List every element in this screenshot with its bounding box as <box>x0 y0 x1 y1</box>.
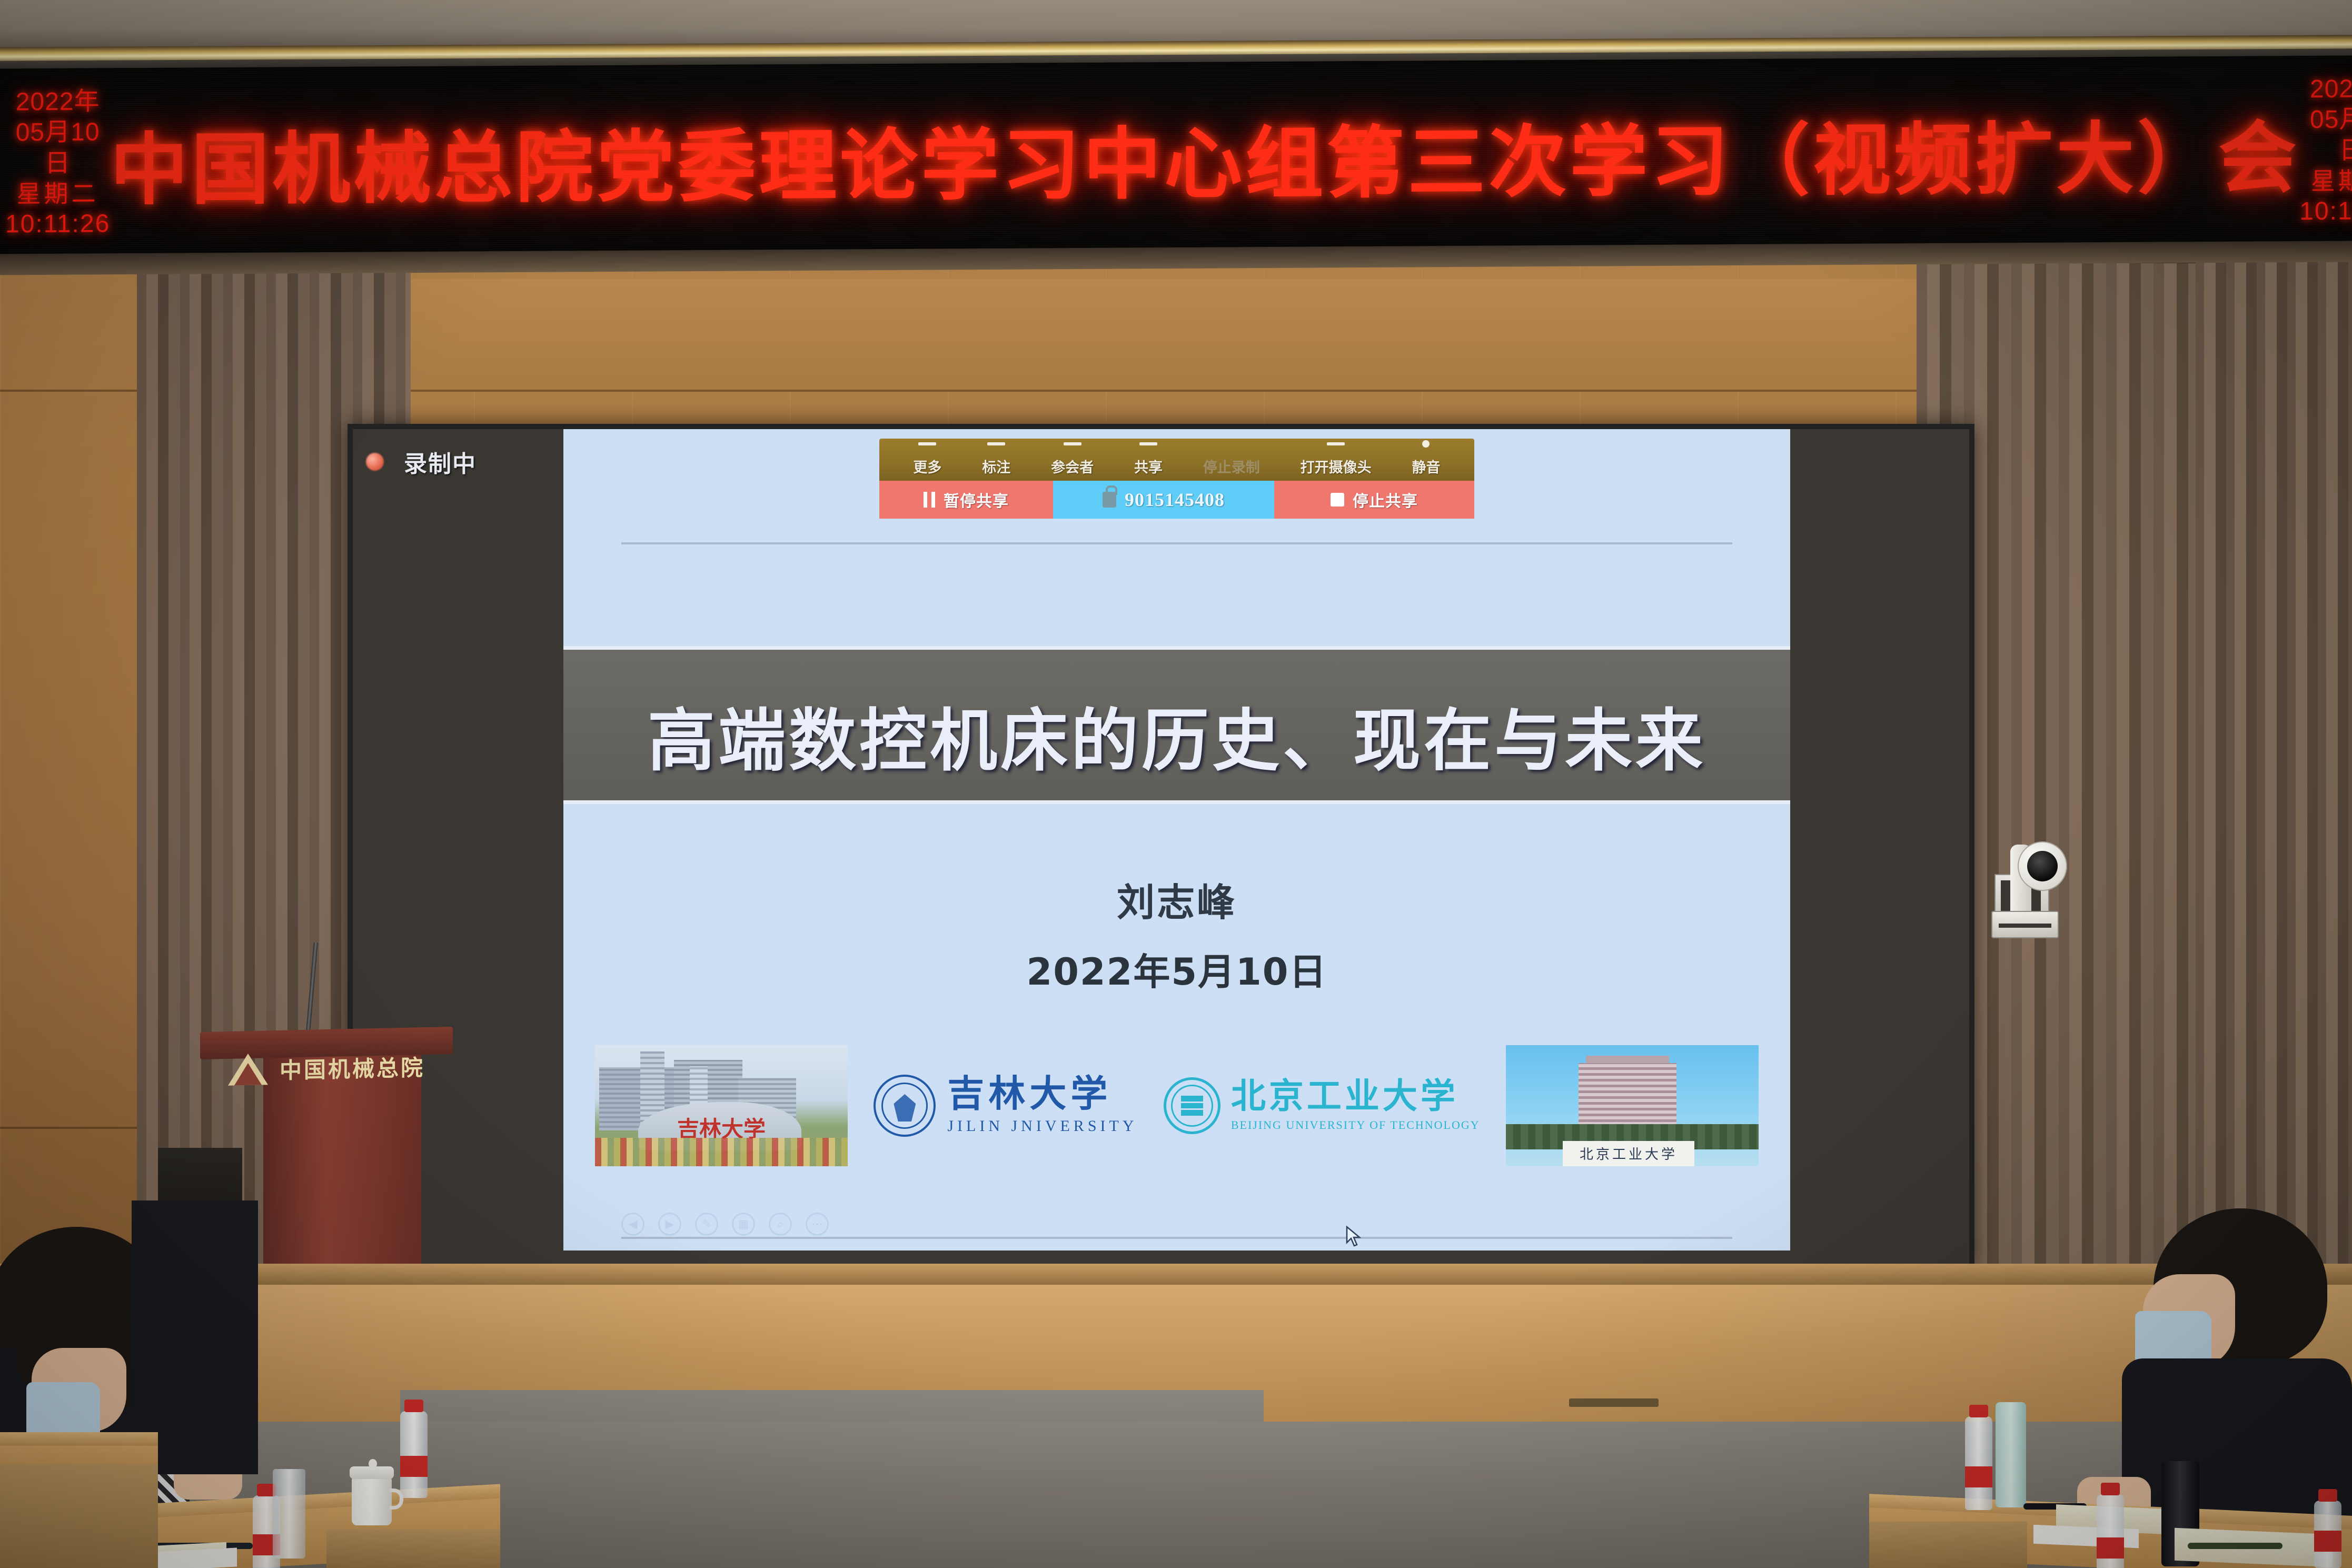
camera-lens-icon <box>2027 851 2058 881</box>
led-left-time: 10:11:26 <box>5 209 110 240</box>
led-right-time: 10:11:26 <box>2299 196 2352 227</box>
stop-square-icon <box>1331 493 1344 507</box>
stage-edge <box>0 1264 2352 1287</box>
pause-icon <box>924 492 935 508</box>
toolbar-item-mute[interactable]: 静音 <box>1412 456 1440 477</box>
jilin-university-campus-photo: 吉林大学 <box>595 1045 848 1166</box>
toolbar-label-stop-record: 停止录制 <box>1203 460 1260 475</box>
table-right-front-panel <box>1869 1522 2027 1568</box>
toolbar-label-start-video: 打开摄像头 <box>1301 460 1372 475</box>
jilin-logo-cn: 吉林大学 <box>947 1076 1137 1113</box>
projection-screen[interactable]: 录制中 更多 标注 参会者 <box>348 424 1974 1272</box>
bjut-logo-en: BEIJING UNIVERSITY OF TECHNOLOGY <box>1231 1118 1480 1132</box>
prev-slide-icon[interactable]: ◀ <box>621 1213 644 1236</box>
recording-label: 录制中 <box>404 445 477 479</box>
toolbar-item-annotate[interactable]: 标注 <box>982 456 1010 477</box>
toolbar-label-share: 共享 <box>1134 460 1163 475</box>
share-icon <box>1139 442 1157 445</box>
all-slides-icon[interactable]: ▦ <box>732 1213 755 1236</box>
table-left-rear-front <box>0 1465 158 1568</box>
shared-presentation-window[interactable]: 更多 标注 参会者 共享 <box>563 429 1790 1251</box>
thermos-steel <box>273 1469 305 1559</box>
slide-title: 高端数控机床的历史、现在与未来 <box>563 686 1790 783</box>
toolbar-label-participants: 参会者 <box>1051 460 1094 475</box>
pause-share-label: 暂停共享 <box>944 488 1009 511</box>
slide-band-line-bottom <box>563 800 1790 804</box>
table-left-front-panel <box>326 1530 500 1568</box>
conference-hall-scene: 2022年05月10日 星期二 10:11:26 中国机械总院党委理论学习中心组… <box>0 0 2352 1568</box>
slide-band-line-top <box>563 646 1790 650</box>
water-bottle <box>2314 1501 2341 1568</box>
jilin-university-logo: 吉林大学 JILIN JNIVERSITY <box>874 1075 1137 1137</box>
bjut-seal-icon <box>1164 1077 1220 1134</box>
pause-share-button[interactable]: 暂停共享 <box>879 481 1053 519</box>
beijing-university-of-technology-logo: 北京工业大学 BEIJING UNIVERSITY OF TECHNOLOGY <box>1164 1077 1480 1134</box>
pen-tool-icon[interactable]: ✎ <box>695 1213 718 1236</box>
pen <box>2188 1543 2282 1549</box>
toolbar-label-annotate: 标注 <box>982 460 1010 475</box>
led-right-weekday: 星期二 <box>2299 166 2352 196</box>
recording-indicator: 录制中 <box>366 445 477 479</box>
slide-logo-row: 吉林大学 吉林大学 JILIN JNIVERSITY 北京工业大学 <box>595 1040 1759 1172</box>
jilin-seal-icon <box>874 1075 936 1137</box>
podium-org-name: 中国机械总院 <box>280 1049 425 1085</box>
lock-icon <box>1103 492 1116 508</box>
people-icon <box>1064 442 1081 445</box>
bjut-logo-cn: 北京工业大学 <box>1231 1079 1480 1114</box>
led-right-date: 2022年05月10日 <box>2299 74 2352 167</box>
led-banner: 2022年05月10日 星期二 10:11:26 中国机械总院党委理论学习中心组… <box>0 55 2352 258</box>
led-left-datetime: 2022年05月10日 星期二 10:11:26 <box>5 86 110 240</box>
slide-divider-top <box>621 542 1732 544</box>
stop-share-button[interactable]: 停止共享 <box>1274 481 1474 519</box>
toolbar-item-share[interactable]: 共享 <box>1134 456 1163 477</box>
next-slide-icon[interactable]: ▶ <box>658 1213 681 1236</box>
led-banner-title: 中国机械总院党委理论学习中心组第三次学习（视频扩大）会 <box>110 94 2299 220</box>
lidded-teacup <box>352 1477 392 1525</box>
mountain-triangle-logo-icon <box>228 1053 268 1086</box>
toolbar-item-start-video[interactable]: 打开摄像头 <box>1301 456 1372 477</box>
beijing-university-of-technology-campus-photo: 北京工业大学 <box>1506 1045 1759 1166</box>
meeting-id-chip[interactable]: 9015145408 <box>1053 481 1274 519</box>
led-left-weekday: 星期二 <box>5 179 110 209</box>
stop-share-label: 停止共享 <box>1353 488 1418 511</box>
slide-date: 2022年5月10日 <box>563 942 1790 996</box>
stage-vent <box>1569 1398 1659 1407</box>
meeting-id-value: 9015145408 <box>1125 489 1225 511</box>
led-right-datetime: 2022年05月10日 星期二 10:11:26 <box>2299 74 2352 227</box>
ellipsis-icon <box>918 442 936 445</box>
more-options-icon[interactable]: ⋯ <box>806 1213 829 1236</box>
water-bottle <box>400 1411 428 1498</box>
toolbar-item-stop-record[interactable]: 停止录制 <box>1203 456 1260 477</box>
pen-icon <box>987 442 1005 445</box>
water-bottle <box>1965 1416 1992 1510</box>
toolbar-item-participants[interactable]: 参会者 <box>1051 456 1094 477</box>
toolbar-item-more[interactable]: 更多 <box>913 456 941 477</box>
presentation-controls[interactable]: ◀ ▶ ✎ ▦ ⌕ ⋯ <box>621 1213 829 1236</box>
thermos-flask <box>1996 1402 2026 1507</box>
jilin-logo-en: JILIN JNIVERSITY <box>947 1117 1137 1135</box>
record-dot-icon <box>366 453 384 471</box>
curtain-far-right <box>2196 226 2352 1343</box>
podium-nameplate: 中国机械总院 <box>208 1039 440 1096</box>
wall-upper-band <box>253 279 1990 390</box>
meeting-toolbar-row[interactable]: 更多 标注 参会者 共享 <box>879 439 1474 481</box>
water-bottle <box>2097 1494 2124 1568</box>
slide-author: 刘志峰 <box>563 871 1790 927</box>
camera-icon <box>1327 442 1345 445</box>
meeting-control-toolbar[interactable]: 更多 标注 参会者 共享 <box>879 439 1474 519</box>
toolbar-label-mute: 静音 <box>1412 460 1440 475</box>
mic-icon <box>1422 440 1430 448</box>
toolbar-label-more: 更多 <box>913 460 941 475</box>
zoom-icon[interactable]: ⌕ <box>769 1213 792 1236</box>
camera-base-slot <box>1999 924 2051 928</box>
bjut-campus-wall-text: 北京工业大学 <box>1567 1144 1690 1163</box>
slide-divider-bottom <box>621 1237 1732 1239</box>
mouse-cursor <box>1345 1226 1361 1248</box>
led-left-date: 2022年05月10日 <box>5 86 110 180</box>
share-status-bar[interactable]: 暂停共享 9015145408 停止共享 <box>879 481 1474 519</box>
